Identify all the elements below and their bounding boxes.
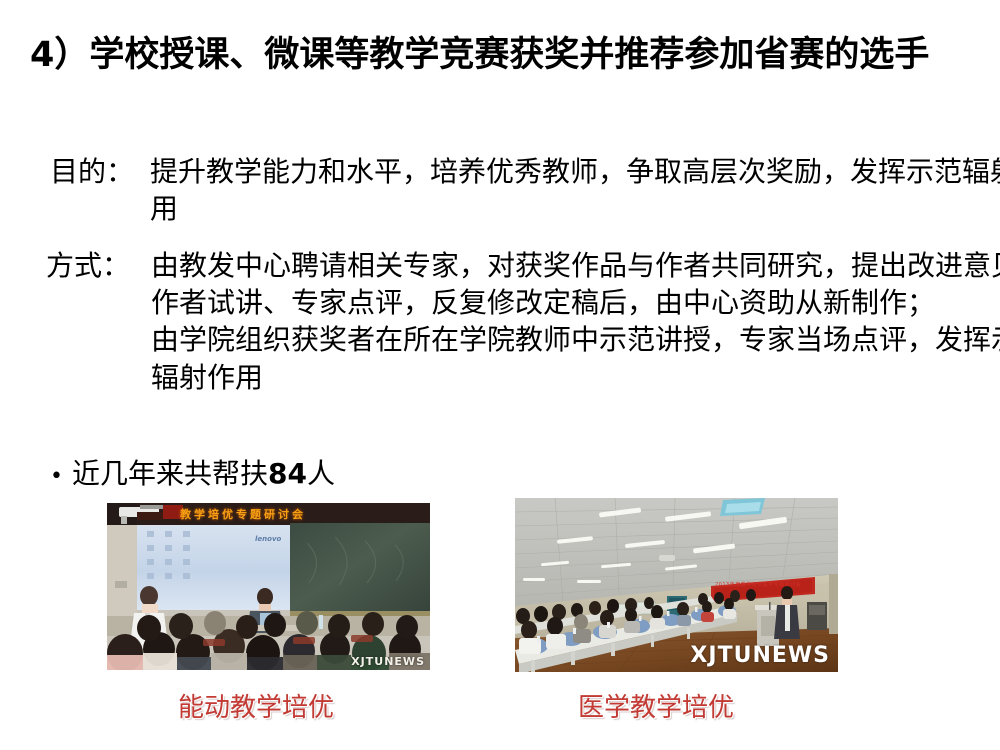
bullet-dot-icon: • <box>50 466 63 488</box>
purpose-text: 提升教学能力和水平，培养优秀教师，争取高层次奖励，发挥示范辐射作用 <box>150 155 1000 225</box>
photo-left[interactable]: lenovo <box>107 503 430 670</box>
bullet-text-after: 人 <box>307 457 335 490</box>
photo-left-image: lenovo <box>107 503 430 670</box>
photo-right-banner: 2013年度教学培优医学专题研讨会 <box>715 581 801 588</box>
method-paragraph: 方式：由教发中心聘请相关专家，对获奖作品与作者共同研究，提出改进意见，作者试讲、… <box>46 247 1000 396</box>
page-title-text: 4）学校授课、微课等教学竞赛获奖并推荐参加省赛的选手 <box>30 35 929 75</box>
purpose-label: 目的： <box>50 153 150 190</box>
bullet-count: 84 <box>268 457 307 490</box>
purpose-paragraph: 目的：提升教学能力和水平，培养优秀教师，争取高层次奖励，发挥示范辐射作用 <box>50 153 1000 227</box>
bullet-line: • 近几年来共帮扶84人 <box>50 456 335 492</box>
method-label: 方式： <box>46 247 151 284</box>
page-title: 4）学校授课、微课等教学竞赛获奖并推荐参加省赛的选手 <box>30 33 970 77</box>
photo-left-banner: 教学培优专题研讨会 <box>180 506 306 522</box>
bullet-text: 近几年来共帮扶84人 <box>72 456 335 492</box>
photo-right[interactable]: 2013年度教学培优医学专题研讨会 XJTUNEWS <box>515 498 838 672</box>
svg-text:lenovo: lenovo <box>255 535 282 543</box>
method-text: 由教发中心聘请相关专家，对获奖作品与作者共同研究，提出改进意见，作者试讲、专家点… <box>151 249 1000 394</box>
bullet-text-before: 近几年来共帮扶 <box>72 457 268 490</box>
photo-right-caption: 医学教学培优 <box>578 687 734 724</box>
photo-left-caption: 能动教学培优 <box>178 687 334 724</box>
